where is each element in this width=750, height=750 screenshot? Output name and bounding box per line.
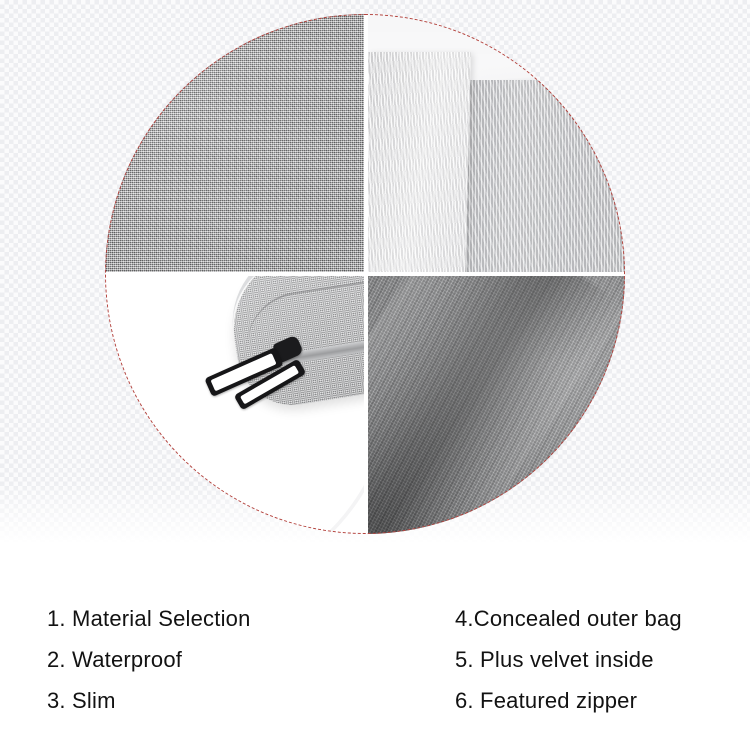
- legend-item-waterproof: 2. Waterproof: [47, 639, 251, 680]
- legend-item-featured-zipper: 6. Featured zipper: [455, 680, 682, 721]
- legend-left-column: 1. Material Selection 2. Waterproof 3. S…: [47, 598, 251, 721]
- legend-item-plus-velvet-inside: 5. Plus velvet inside: [455, 639, 682, 680]
- linen-texture: [105, 14, 364, 272]
- circular-product-collage: [105, 14, 625, 534]
- quadrant-woven-linen-fabric: [105, 14, 364, 272]
- legend-right-column: 4.Concealed outer bag 5. Plus velvet ins…: [455, 598, 682, 721]
- quadrant-featured-zipper: [105, 276, 364, 534]
- velvet-folded-flap: [368, 52, 471, 272]
- collage-clip: [105, 14, 625, 534]
- quadrant-concealed-outer-bag: [368, 276, 625, 534]
- product-feature-infographic: 1. Material Selection 2. Waterproof 3. S…: [0, 0, 750, 750]
- feature-legend: 1. Material Selection 2. Waterproof 3. S…: [0, 552, 750, 750]
- legend-item-material-selection: 1. Material Selection: [47, 598, 251, 639]
- velvet-body: [460, 80, 625, 272]
- legend-item-slim: 3. Slim: [47, 680, 251, 721]
- quadrant-velvet-lining: [368, 14, 625, 272]
- legend-item-concealed-outer-bag: 4.Concealed outer bag: [455, 598, 682, 639]
- outer-bag-sheen: [368, 276, 625, 534]
- collage-divider-horizontal: [105, 272, 625, 276]
